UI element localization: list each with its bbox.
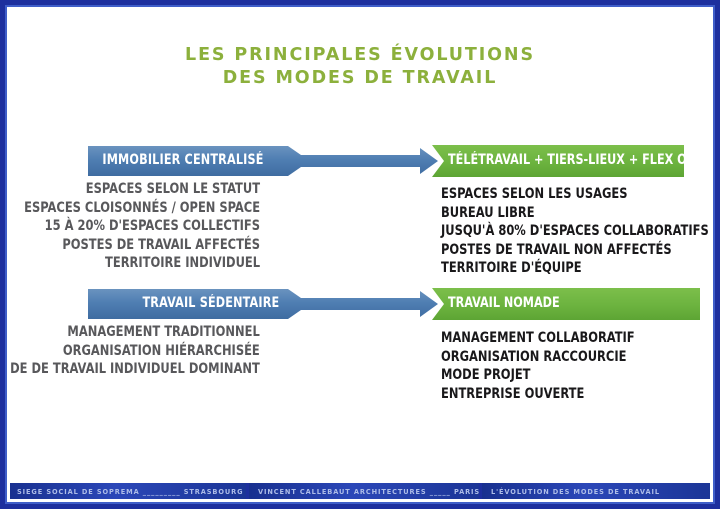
row-1-left-items: ESPACES SELON LE STATUT ESPACES CLOISONN… bbox=[24, 180, 260, 273]
page-title: LES PRINCIPALES ÉVOLUTIONS DES MODES DE … bbox=[0, 44, 720, 90]
list-item: POSTES DE TRAVAIL NON AFFECTÉS bbox=[441, 241, 709, 260]
green-banner-label-row-1: TÉLÉTRAVAIL + TIERS-LIEUX + FLEX OFFICE bbox=[448, 145, 720, 177]
green-banner-label-row-2: TRAVAIL NOMADE bbox=[448, 288, 560, 320]
footer-project-label: SIEGE SOCIAL DE SOPREMA _________ STRASB… bbox=[8, 483, 246, 501]
list-item: MODE PROJET bbox=[441, 366, 635, 385]
page-title-line-2: DES MODES DE TRAVAIL bbox=[0, 67, 720, 90]
list-item: ESPACES SELON LE STATUT bbox=[24, 180, 260, 199]
row-2-left-items: MANAGEMENT TRADITIONNEL ORGANISATION HIÉ… bbox=[0, 323, 260, 379]
list-item: TERRITOIRE D'ÉQUIPE bbox=[441, 259, 709, 278]
list-item: 15 À 20% D'ESPACES COLLECTIFS bbox=[24, 217, 260, 236]
evolution-row-1: IMMOBILIER CENTRALISÉ TÉLÉTRAVAIL + TIER… bbox=[0, 145, 720, 177]
blue-banner-label-row-1: IMMOBILIER CENTRALISÉ bbox=[101, 145, 264, 177]
slide-canvas: LES PRINCIPALES ÉVOLUTIONS DES MODES DE … bbox=[0, 0, 720, 509]
list-item: ESPACES CLOISONNÉS / OPEN SPACE bbox=[24, 199, 260, 218]
footer-bar: SIEGE SOCIAL DE SOPREMA _________ STRASB… bbox=[8, 483, 712, 501]
list-item: ORGANISATION HIÉRARCHISÉE bbox=[0, 342, 260, 361]
blue-banner-label-row-2: TRAVAIL SÉDENTAIRE bbox=[116, 288, 288, 320]
row-1-right-items: ESPACES SELON LES USAGES BUREAU LIBRE JU… bbox=[441, 185, 709, 278]
row-1-banner-strip: IMMOBILIER CENTRALISÉ TÉLÉTRAVAIL + TIER… bbox=[0, 145, 720, 177]
list-item: MANAGEMENT TRADITIONNEL bbox=[0, 323, 260, 342]
evolution-row-2: TRAVAIL SÉDENTAIRE TRAVAIL NOMADE bbox=[0, 288, 720, 320]
list-item: ENTREPRISE OUVERTE bbox=[441, 385, 635, 404]
list-item: MANAGEMENT COLLABORATIF bbox=[441, 329, 635, 348]
row-2-banner-strip: TRAVAIL SÉDENTAIRE TRAVAIL NOMADE bbox=[0, 288, 720, 320]
footer-agency-label: VINCENT CALLEBAUT ARCHITECTURES _____ PA… bbox=[249, 483, 479, 501]
page-title-line-1: LES PRINCIPALES ÉVOLUTIONS bbox=[0, 44, 720, 67]
list-item: MODE DE TRAVAIL INDIVIDUEL DOMINANT bbox=[0, 360, 260, 379]
list-item: TERRITOIRE INDIVIDUEL bbox=[24, 254, 260, 273]
list-item: JUSQU'À 80% D'ESPACES COLLABORATIFS bbox=[441, 222, 709, 241]
list-item: POSTES DE TRAVAIL AFFECTÉS bbox=[24, 236, 260, 255]
list-item: BUREAU LIBRE bbox=[441, 204, 709, 223]
list-item: ESPACES SELON LES USAGES bbox=[441, 185, 709, 204]
list-item: ORGANISATION RACCOURCIE bbox=[441, 348, 635, 367]
row-2-right-items: MANAGEMENT COLLABORATIF ORGANISATION RAC… bbox=[441, 329, 635, 403]
footer-topic-label: L'ÉVOLUTION DES MODES DE TRAVAIL bbox=[482, 483, 712, 501]
